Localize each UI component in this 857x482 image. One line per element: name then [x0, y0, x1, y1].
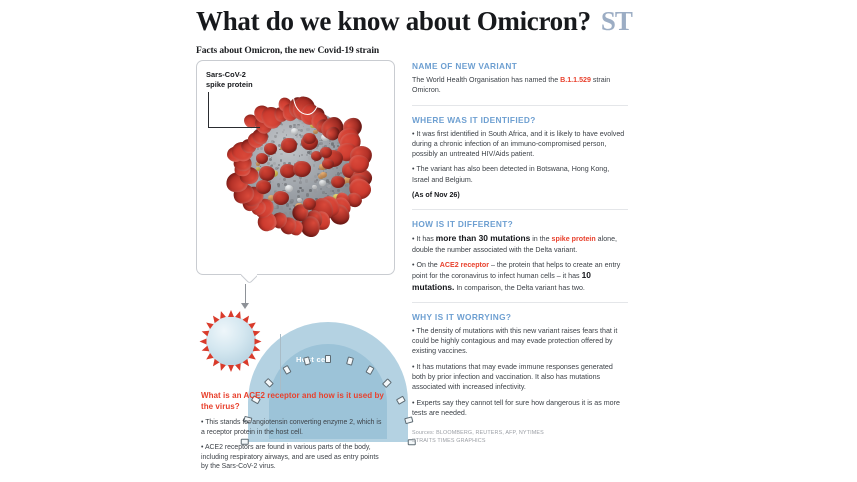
d1-pre: • It has — [412, 235, 436, 243]
spike-callout-line-2: spike protein — [206, 80, 253, 90]
identified-bullet-2: • The variant has also been detected in … — [412, 164, 628, 185]
ace2-bullet-2: • ACE2 receptors are found in various pa… — [201, 443, 386, 472]
ace2-receptor-icon — [325, 355, 331, 363]
worrying-bullet-3: • Experts say they cannot tell for sure … — [412, 398, 628, 419]
ace2-explainer-block: What is an ACE2 receptor and how is it u… — [201, 390, 386, 478]
d1-spike-protein: spike protein — [552, 235, 596, 243]
virus-spike-icon — [253, 346, 262, 354]
page-title: What do we know about Omicron? — [196, 6, 591, 36]
different-bullet-2: • On the ACE2 receptor – the protein tha… — [412, 260, 628, 293]
section-where-identified: WHERE WAS IT IDENTIFIED? • It was first … — [412, 105, 628, 201]
spike-protein — [320, 147, 332, 157]
callout-leader-horizontal — [208, 127, 260, 128]
virus-spike-icon — [255, 338, 262, 344]
section-name-of-new-variant: NAME OF NEW VARIANT The World Health Org… — [412, 60, 628, 96]
virus-spike-icon — [218, 363, 226, 372]
left-column: Sars-CoV-2 spike protein Host cell What … — [196, 60, 401, 475]
infographic-page: What do we know about Omicron? ST Facts … — [0, 0, 857, 482]
page-subtitle: Facts about Omicron, the new Covid-19 st… — [196, 45, 666, 57]
host-cell-diagram: Host cell — [196, 308, 401, 388]
virus-spike-icon — [253, 329, 262, 337]
spike-protein — [264, 143, 277, 155]
d1-mid: in the — [530, 235, 551, 243]
spike-protein — [303, 198, 316, 210]
spike-protein — [256, 153, 268, 164]
variant-text-pre: The World Health Organisation has named … — [412, 76, 560, 84]
section-heading: WHY IS IT WORRYING? — [412, 311, 628, 323]
section-why-worrying: WHY IS IT WORRYING? • The density of mut… — [412, 302, 628, 418]
identified-bullet-1: • It was first identified in South Afric… — [412, 129, 628, 160]
card-pointer-tail — [241, 274, 257, 283]
virus-spike-icon — [200, 329, 209, 337]
ace2-bullet-1: • This stands for angiotensin converting… — [201, 418, 386, 437]
sources-line-1: Sources: BLOOMBERG, REUTERS, AFP, NYTIME… — [412, 430, 628, 437]
spike-protein — [259, 166, 275, 180]
virus-spike-icon — [242, 359, 251, 368]
section-heading: NAME OF NEW VARIANT — [412, 60, 628, 72]
receptor-leader-line — [280, 334, 281, 390]
spike-protein-callout: Sars-CoV-2 spike protein — [206, 70, 253, 89]
virus-spike-icon — [200, 338, 207, 344]
section-how-different: HOW IS IT DIFFERENT? • It has more than … — [412, 209, 628, 292]
spike-protein — [331, 176, 344, 188]
sources-line-2: STRAITS TIMES GRAPHICS — [412, 438, 628, 445]
virus-spike-icon — [248, 353, 257, 362]
worrying-bullet-2: • It has mutations that may evade immune… — [412, 362, 628, 393]
virus-spike-icon — [228, 365, 234, 372]
d2-post: In comparison, the Delta variant has two… — [454, 284, 585, 292]
spike-callout-line-1: Sars-CoV-2 — [206, 70, 253, 80]
callout-leader-vertical — [208, 92, 209, 128]
right-column: NAME OF NEW VARIANT The World Health Org… — [412, 60, 628, 445]
title-row: What do we know about Omicron? ST — [196, 6, 666, 36]
section-heading: HOW IS IT DIFFERENT? — [412, 218, 628, 230]
different-bullet-1: • It has more than 30 mutations in the s… — [412, 233, 628, 255]
section-heading: WHERE WAS IT IDENTIFIED? — [412, 114, 628, 126]
d2-ace2-receptor: ACE2 receptor — [440, 261, 489, 269]
section-body: The World Health Organisation has named … — [412, 75, 628, 96]
sources-credit: Sources: BLOOMBERG, REUTERS, AFP, NYTIME… — [412, 430, 628, 445]
spike-protein — [322, 159, 334, 169]
straits-times-logo: ST — [601, 7, 632, 35]
ace2-heading: What is an ACE2 receptor and how is it u… — [201, 390, 386, 412]
d2-pre: • On the — [412, 261, 440, 269]
virus-spike-icon — [235, 363, 243, 372]
variant-code: B.1.1.529 — [560, 76, 591, 84]
spike-protein — [273, 191, 289, 206]
spike-protein — [281, 138, 297, 152]
virus-spike-icon — [200, 346, 209, 354]
header: What do we know about Omicron? ST Facts … — [196, 6, 666, 58]
virus-image-card: Sars-CoV-2 spike protein — [196, 60, 395, 275]
virus-spike-icon — [228, 310, 234, 317]
d1-bold-mutations: more than 30 mutations — [436, 233, 530, 243]
identified-date-note: (As of Nov 26) — [412, 190, 628, 200]
spike-protein — [256, 180, 271, 193]
worrying-bullet-1: • The density of mutations with this new… — [412, 326, 628, 357]
